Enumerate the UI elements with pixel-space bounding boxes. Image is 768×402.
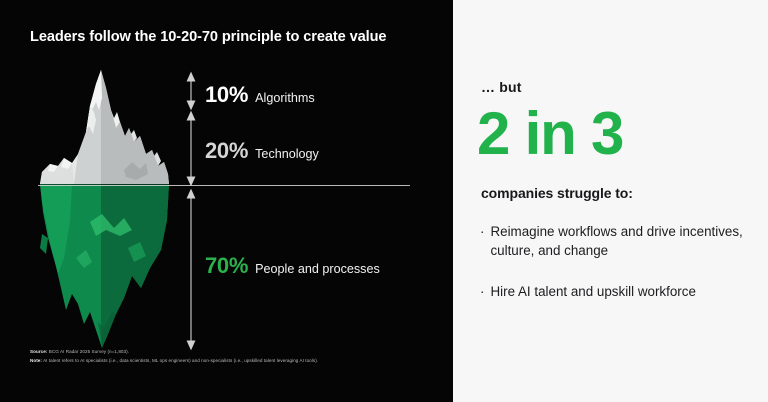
bullet-text: Hire AI talent and upskill workforce <box>490 282 750 301</box>
left-dark-panel: Leaders follow the 10-20-70 principle to… <box>0 0 453 402</box>
segment-pct-algorithms: 10% <box>205 82 248 108</box>
footnotes: Source: BCG AI Radar 2025 Survey (n=1,80… <box>30 348 430 366</box>
double-arrow-icon <box>182 62 200 352</box>
measurement-arrows <box>182 62 200 352</box>
segment-text-technology: Technology <box>255 147 319 161</box>
segment-text-people: People and processes <box>255 262 380 276</box>
footnote-source: Source: BCG AI Radar 2025 Survey (n=1,80… <box>30 348 430 357</box>
slide-root: Leaders follow the 10-20-70 principle to… <box>0 0 768 402</box>
kicker-text: … but <box>481 79 522 95</box>
bullet-dot-icon: · <box>480 282 484 301</box>
bullet-dot-icon: · <box>480 222 484 260</box>
segment-label-technology: 20% Technology <box>205 138 319 164</box>
footnote-note: Note: AI talent refers to AI specialists… <box>30 357 430 366</box>
subheadline: companies struggle to: <box>481 185 633 201</box>
iceberg-illustration <box>28 62 178 352</box>
footnote-source-text: BCG AI Radar 2025 Survey (n=1,803). <box>47 349 129 354</box>
page-title: Leaders follow the 10-20-70 principle to… <box>30 29 386 45</box>
waterline-divider <box>38 185 410 186</box>
list-item: · Reimagine workflows and drive incentiv… <box>480 222 750 260</box>
right-light-panel: … but 2 in 3 companies struggle to: · Re… <box>453 0 768 402</box>
headline-stat: 2 in 3 <box>477 104 623 164</box>
bullet-text: Reimagine workflows and drive incentives… <box>490 222 750 260</box>
segment-pct-technology: 20% <box>205 138 248 164</box>
segment-pct-people: 70% <box>205 253 248 279</box>
list-item: · Hire AI talent and upskill workforce <box>480 282 750 301</box>
segment-label-algorithms: 10% Algorithms <box>205 82 315 108</box>
bullet-list: · Reimagine workflows and drive incentiv… <box>480 222 750 323</box>
segment-label-people: 70% People and processes <box>205 253 380 279</box>
segment-text-algorithms: Algorithms <box>255 91 315 105</box>
footnote-note-text: AI talent refers to AI specialists (i.e.… <box>42 358 318 363</box>
footnote-source-label: Source: <box>30 349 47 354</box>
iceberg-icon <box>28 62 178 352</box>
footnote-note-label: Note: <box>30 358 42 363</box>
